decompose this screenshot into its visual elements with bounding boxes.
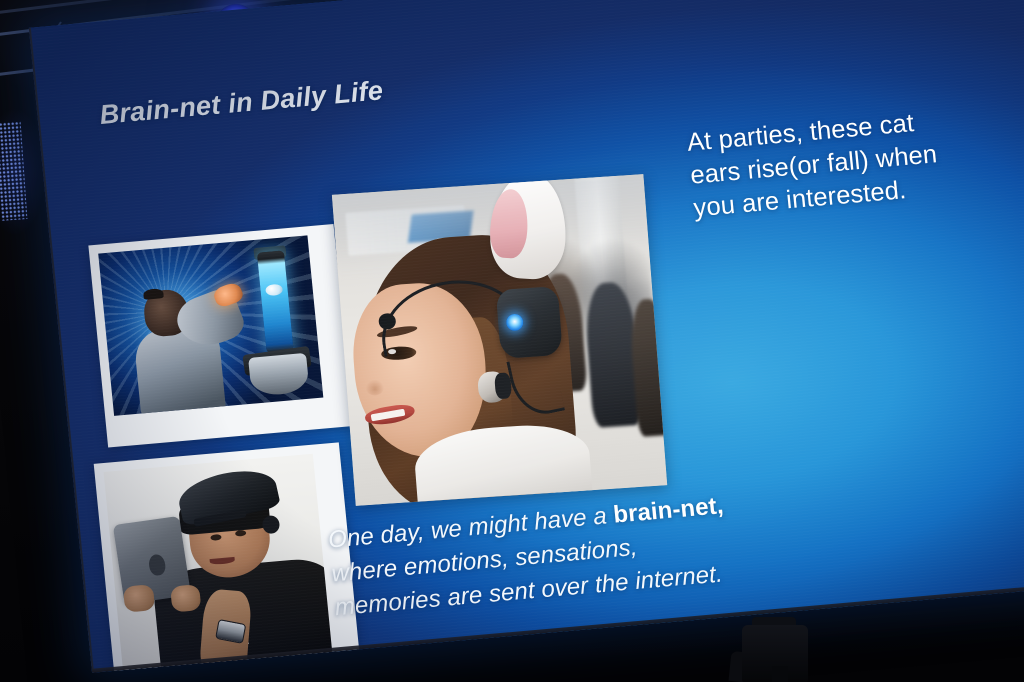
slide-text-right: At parties, these cat ears rise(or fall)… (686, 96, 1024, 225)
photo-mindflex-image (98, 235, 323, 416)
presentation-slide: Brain-net in Daily Life (29, 0, 1024, 673)
person-figure (167, 461, 332, 671)
eeg-earpiece (262, 515, 281, 534)
projection-screen: Brain-net in Daily Life (29, 0, 1024, 673)
photo-mindflex (88, 224, 353, 447)
person-figure (136, 283, 257, 415)
page-title: Brain-net in Daily Life (98, 75, 384, 131)
stage-scene: Brain-net in Daily Life (0, 0, 1024, 682)
photo-cat-ears-woman (332, 174, 667, 506)
photo-tablet-image (104, 454, 333, 671)
eeg-earclip-dark (494, 372, 512, 399)
person-hand (170, 584, 202, 612)
person-hair (143, 288, 164, 300)
person-hand (123, 584, 155, 612)
text-bottom-emphasis: brain-net, (612, 492, 725, 528)
person-hand (212, 280, 245, 309)
tablet-logo-icon (148, 554, 167, 577)
camera-mount (772, 666, 788, 682)
photo-tablet-user (94, 442, 362, 672)
